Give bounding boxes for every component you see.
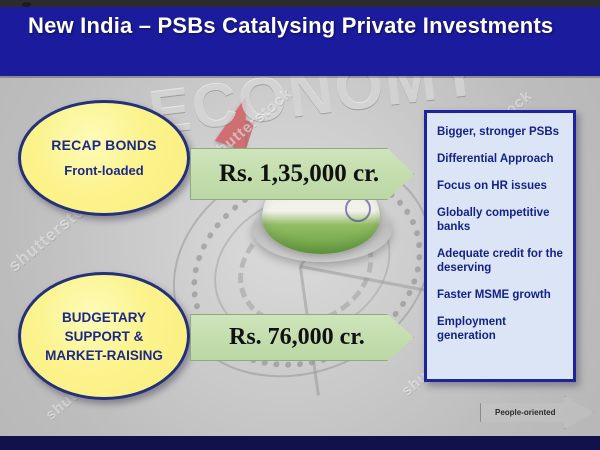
lever-budget-line-3: MARKET-RAISING <box>45 346 163 365</box>
presentation-slide: ECONOMY shutterstock shutterstock shutte… <box>0 0 600 450</box>
lever-recap-subtitle: Front-loaded <box>64 163 143 179</box>
lever-budgetary-support-ellipse[interactable]: BUDGETARY SUPPORT & MARKET-RAISING <box>18 272 190 400</box>
lever-recap-title: RECAP BONDS <box>51 137 156 154</box>
lever-recap-bonds-ellipse[interactable]: RECAP BONDS Front-loaded <box>18 100 190 216</box>
outcome-item: Faster MSME growth <box>437 288 565 302</box>
amount-arrow-recap: Rs. 1,35,000 cr. <box>190 148 414 200</box>
lever-budget-line-2: SUPPORT & <box>65 327 144 346</box>
outcome-item: Focus on HR issues <box>437 179 565 193</box>
outcomes-panel: Bigger, stronger PSBs Differential Appro… <box>424 110 576 382</box>
people-oriented-label: People-oriented <box>481 408 555 417</box>
slide-title-bar: New India – PSBs Catalysing Private Inve… <box>0 7 600 76</box>
lever-budget-line-1: BUDGETARY <box>62 308 146 327</box>
top-chrome-strip <box>0 0 600 7</box>
page-title: New India – PSBs Catalysing Private Inve… <box>0 7 600 40</box>
outcome-item: Employment generation <box>437 315 565 343</box>
bottom-chrome-strip <box>0 436 600 450</box>
outcome-item: Bigger, stronger PSBs <box>437 125 565 139</box>
amount-recap-label: Rs. 1,35,000 cr. <box>191 160 379 188</box>
outcome-item: Globally competitive banks <box>437 206 565 234</box>
amount-budget-label: Rs. 76,000 cr. <box>191 324 365 351</box>
outcome-item: Adequate credit for the deserving <box>437 247 565 275</box>
amount-arrow-budget: Rs. 76,000 cr. <box>190 314 414 361</box>
outcome-item: Differential Approach <box>437 152 565 166</box>
